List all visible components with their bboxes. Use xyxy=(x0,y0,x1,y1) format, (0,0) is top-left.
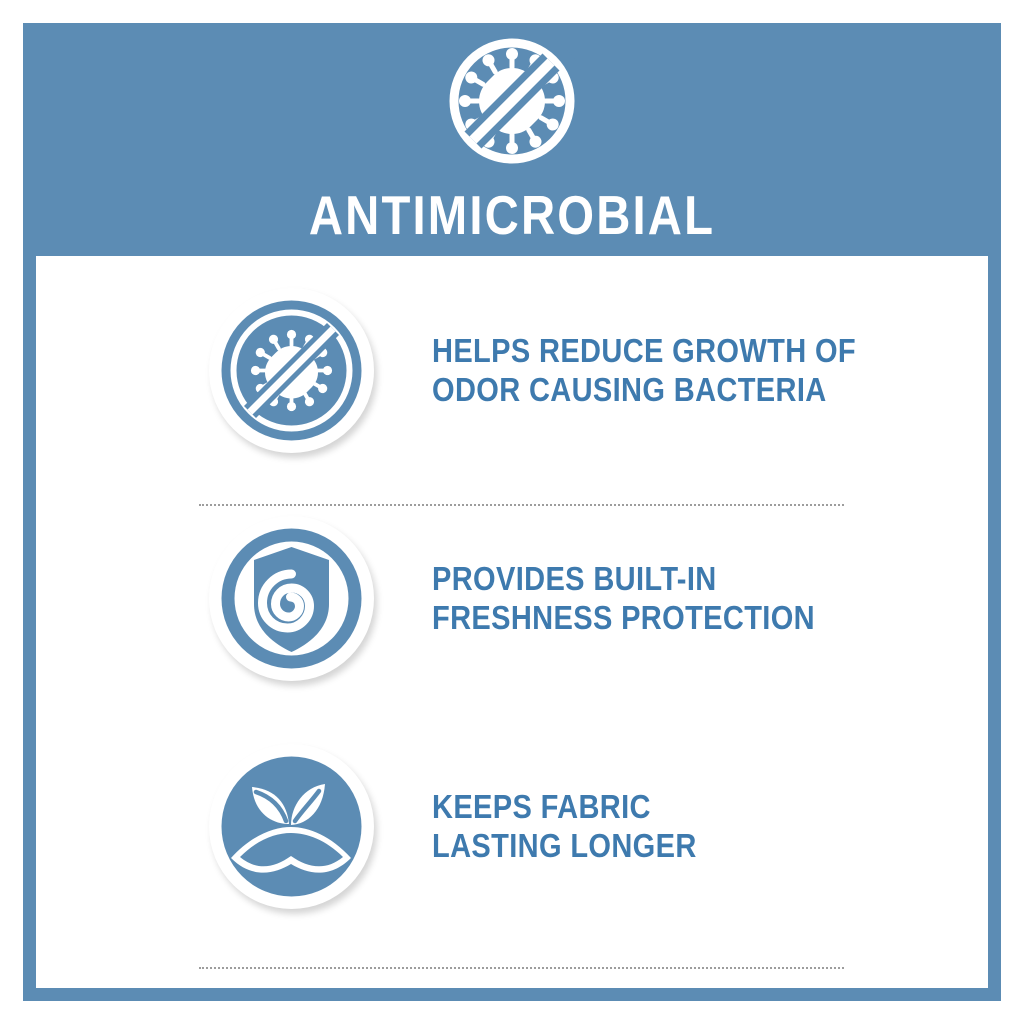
features-panel: HELPS REDUCE GROWTH OF ODOR CAUSING BACT… xyxy=(36,256,988,988)
no-virus-icon xyxy=(209,288,374,453)
feature-icon-badge xyxy=(199,278,384,463)
shield-swirl-icon xyxy=(209,516,374,681)
feature-row: KEEPS FABRIC LASTING LONGER xyxy=(36,712,988,940)
header-band: ANTIMICROBIAL xyxy=(23,23,1001,256)
feature-icon-badge xyxy=(199,734,384,919)
feature-list: HELPS REDUCE GROWTH OF ODOR CAUSING BACT… xyxy=(36,256,988,940)
feature-label: KEEPS FABRIC LASTING LONGER xyxy=(432,787,697,865)
antimicrobial-infographic: ANTIMICROBIAL xyxy=(0,0,1024,1024)
feature-label: HELPS REDUCE GROWTH OF ODOR CAUSING BACT… xyxy=(432,331,856,409)
row-divider xyxy=(199,967,844,969)
fabric-leaf-icon xyxy=(209,744,374,909)
feature-row: HELPS REDUCE GROWTH OF ODOR CAUSING BACT… xyxy=(36,256,988,484)
no-virus-icon xyxy=(446,35,578,167)
feature-icon-badge xyxy=(199,506,384,691)
feature-label: PROVIDES BUILT-IN FRESHNESS PROTECTION xyxy=(432,559,815,637)
feature-row: PROVIDES BUILT-IN FRESHNESS PROTECTION xyxy=(36,484,988,712)
page-title: ANTIMICROBIAL xyxy=(91,186,932,244)
